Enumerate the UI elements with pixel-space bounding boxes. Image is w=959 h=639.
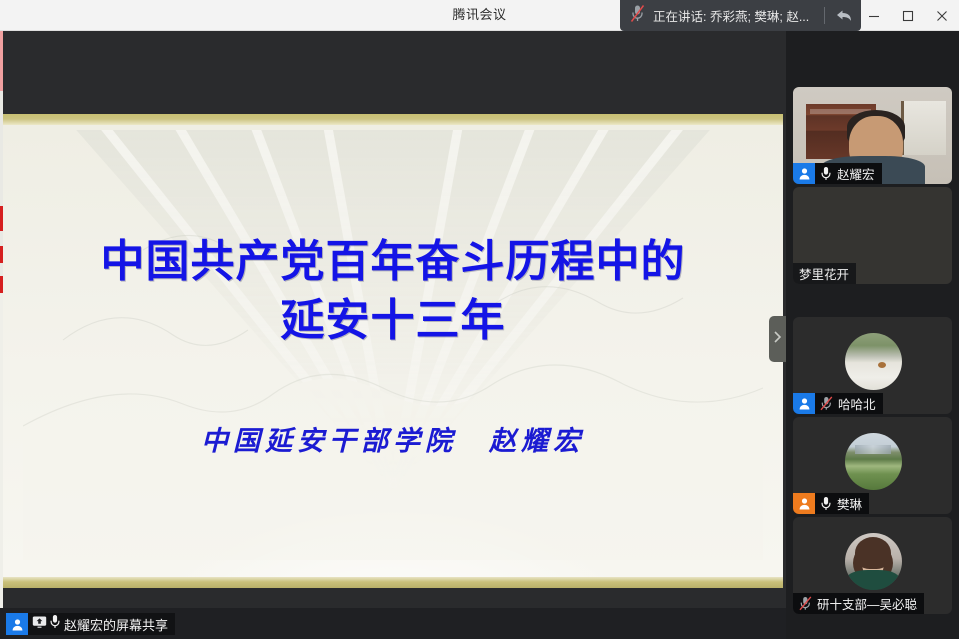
participant-name: 哈哈北 xyxy=(835,394,883,413)
minimize-button[interactable] xyxy=(857,0,891,31)
slide-band-top xyxy=(3,114,783,125)
participant-nameplate: 梦里花开 xyxy=(793,263,856,284)
participant-nameplate: 赵耀宏 xyxy=(793,163,882,184)
shared-slide: 中国共产党百年奋斗历程中的 延安十三年 中国延安干部学院 赵耀宏 xyxy=(3,114,783,588)
slide-title: 中国共产党百年奋斗历程中的 延安十三年 xyxy=(3,232,783,350)
participant-name: 研十支部—吴必聪 xyxy=(814,594,924,613)
participant-rail[interactable]: 赵耀宏 梦里花开 xyxy=(786,31,959,639)
avatar xyxy=(845,433,902,490)
tencent-meeting-window: 腾讯会议 正在讲话: 乔彩燕; 樊琳; 赵... xyxy=(0,0,959,639)
avatar xyxy=(845,333,902,390)
person-icon xyxy=(793,393,815,415)
mic-icon xyxy=(815,496,834,511)
participant-tile[interactable]: 樊琳 xyxy=(793,417,952,514)
mic-icon xyxy=(815,166,834,181)
avatar xyxy=(845,533,902,590)
mic-muted-icon xyxy=(815,396,835,411)
mic-muted-icon xyxy=(793,596,814,611)
slide-band-bottom xyxy=(3,577,783,588)
pill-divider xyxy=(824,7,825,24)
back-arrow-icon[interactable] xyxy=(833,5,855,27)
chip-icon-group xyxy=(28,614,64,634)
avatar-torso xyxy=(847,570,899,590)
collapse-panel-handle[interactable] xyxy=(769,316,786,362)
person-icon xyxy=(793,163,815,185)
shared-screen-stage: 中国共产党百年奋斗历程中的 延安十三年 中国延安干部学院 赵耀宏 xyxy=(0,31,786,639)
participant-name: 赵耀宏 xyxy=(834,164,882,183)
status-bar: 赵耀宏的屏幕共享 xyxy=(0,608,786,639)
participant-tile[interactable]: 研十支部—吴必聪 xyxy=(793,517,952,614)
participant-nameplate: 研十支部—吴必聪 xyxy=(793,593,924,614)
person-icon xyxy=(6,613,28,635)
screen-share-label: 赵耀宏的屏幕共享 xyxy=(64,615,175,634)
participant-name: 樊琳 xyxy=(834,494,869,513)
participant-list: 赵耀宏 梦里花开 xyxy=(786,31,959,639)
mic-muted-icon xyxy=(630,4,645,28)
speaking-label: 正在讲话: 乔彩燕; 樊琳; 赵... xyxy=(653,6,820,25)
participant-nameplate: 哈哈北 xyxy=(793,393,883,414)
title-bar: 腾讯会议 正在讲话: 乔彩燕; 樊琳; 赵... xyxy=(0,0,959,31)
participant-nameplate: 樊琳 xyxy=(793,493,869,514)
screen-share-border xyxy=(0,31,3,639)
screen-share-chip: 赵耀宏的屏幕共享 xyxy=(6,613,175,635)
maximize-button[interactable] xyxy=(891,0,925,31)
screen-share-icon xyxy=(32,615,47,634)
person-icon xyxy=(793,493,815,515)
close-button[interactable] xyxy=(925,0,959,31)
participant-name: 梦里花开 xyxy=(793,264,856,283)
mic-icon xyxy=(49,614,61,634)
video-window xyxy=(901,101,945,155)
window-controls xyxy=(857,0,959,31)
participant-tile[interactable]: 梦里花开 xyxy=(793,187,952,284)
chevron-right-icon xyxy=(773,330,782,349)
participant-tile[interactable]: 赵耀宏 xyxy=(793,87,952,184)
participant-tile[interactable]: 哈哈北 xyxy=(793,317,952,414)
slide-subtitle: 中国延安干部学院 赵耀宏 xyxy=(3,419,783,458)
speaking-indicator[interactable]: 正在讲话: 乔彩燕; 樊琳; 赵... xyxy=(620,0,861,31)
